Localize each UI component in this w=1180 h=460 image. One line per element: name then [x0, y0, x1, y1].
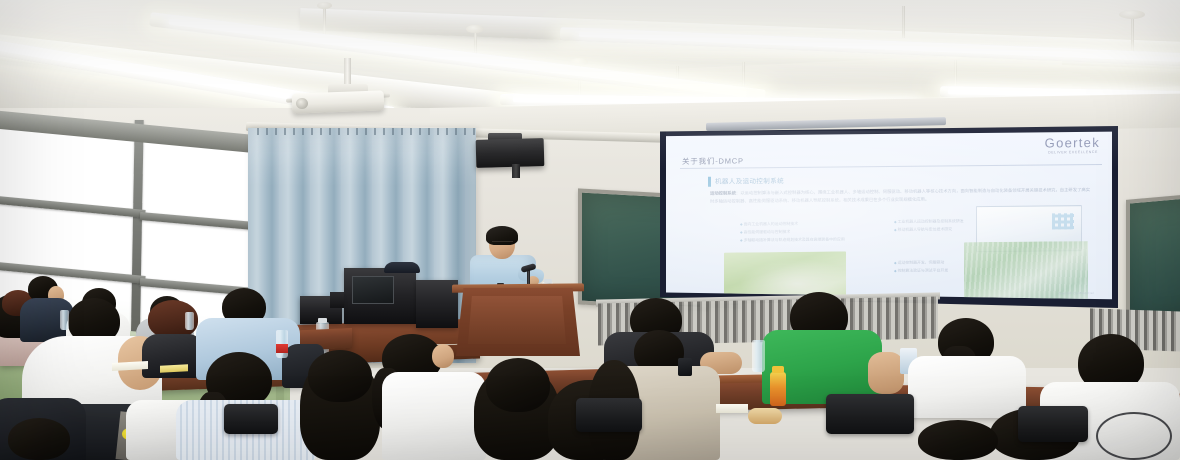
light-mount-cap: [466, 25, 484, 33]
slide-bullets-column-1: 面向工业机器人的运动控制技术 高性能伺服驱动与控制技术 多轴联动插补算法与轨迹规…: [740, 219, 860, 244]
slide-paragraph: 运动控制系统：以运动控制算法与嵌入式控制器为核心，围绕工业机器人、多轴运动控制、…: [710, 186, 1090, 205]
slide-footer: Goertek Confidential: [1059, 291, 1094, 295]
speaker-bracket: [512, 164, 520, 178]
slide-paragraph-body: ：以运动控制算法与嵌入式控制器为核心，围绕工业机器人、多轴运动控制、伺服驱动、移…: [710, 187, 1090, 203]
snack-item: [748, 408, 782, 424]
person-head: [918, 420, 998, 460]
list-item: 移动机器人导航与定位技术研究: [894, 225, 989, 234]
light-mount-cap: [1119, 10, 1145, 19]
shirt-graphic-circle: [1096, 412, 1172, 460]
juice-bottle: [770, 372, 786, 406]
slide-paragraph-lead: 运动控制系统: [710, 190, 736, 195]
light-rod: [902, 6, 905, 38]
slide: Goertek DELIVER EXCELLENCE 关于我们-DMCP 机器人…: [666, 131, 1112, 301]
list-item: 多轴联动插补算法与轨迹规划技术及其在高端装备中的应用: [740, 235, 860, 244]
curtain-hooks: [250, 128, 476, 135]
notebook: [160, 364, 188, 372]
light-rod: [954, 56, 957, 86]
bottle-cap: [318, 318, 327, 323]
person-arm: [868, 352, 904, 394]
wall-speaker: [476, 138, 545, 168]
bottle-cap: [544, 279, 552, 283]
eyeglasses-icon: [492, 241, 513, 247]
chair-back: [826, 394, 914, 434]
chair-back: [1018, 406, 1088, 442]
bottle-label: [276, 344, 288, 353]
goertek-logo: Goertek: [1045, 135, 1100, 151]
water-bottle: [752, 340, 765, 372]
light-mount-cap: [317, 2, 332, 9]
chair-back: [224, 404, 278, 434]
goertek-logo-tagline: DELIVER EXCELLENCE: [1048, 150, 1098, 154]
person-torso: [382, 372, 486, 460]
phone-icon: [678, 358, 692, 376]
person-torso: [908, 356, 1026, 418]
av-monitor-screen: [352, 276, 394, 304]
chair-back: [576, 398, 642, 432]
person-head: [8, 418, 70, 460]
slide-bullets-column-2: 工业机器人运动控制器及控制系统研发 移动机器人导航与定位技术研究: [894, 217, 989, 234]
av-small-box: [330, 292, 344, 308]
projector-lens-icon: [296, 98, 308, 109]
water-bottle: [60, 310, 69, 330]
av-cover: [384, 262, 420, 273]
person-head: [486, 358, 550, 412]
light-rod: [323, 6, 326, 36]
paper-sheet: [716, 404, 748, 413]
classroom-photo: Goertek DELIVER EXCELLENCE 关于我们-DMCP 机器人…: [0, 0, 1180, 460]
podium-front-panel: [468, 296, 566, 344]
projection-screen: Goertek DELIVER EXCELLENCE 关于我们-DMCP 机器人…: [666, 131, 1112, 301]
slide-subtitle: 机器人及运动控制系统: [715, 175, 784, 186]
slide-accent-bar: [708, 177, 711, 187]
slide-title: 关于我们-DMCP: [682, 155, 744, 167]
water-bottle: [185, 312, 194, 330]
bottle-cap: [772, 366, 784, 373]
person-head: [308, 350, 372, 402]
person-face: [432, 344, 454, 368]
